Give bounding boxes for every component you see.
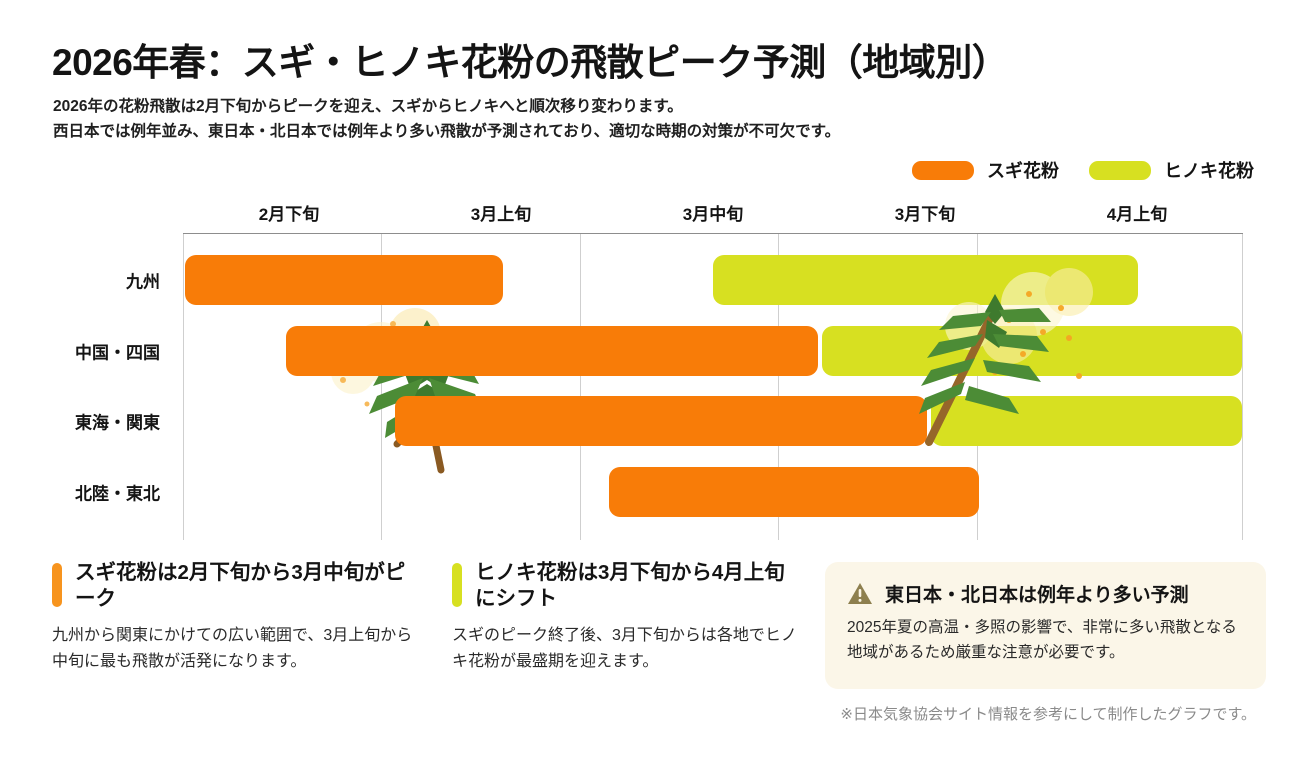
column-header-2: 3月中旬 [607,200,819,230]
row-label-chugoku: 中国・四国 [75,339,160,364]
page-subtitle: 2026年の花粉飛散は2月下旬からピークを迎え、スギからヒノキへと順次移り変わり… [53,94,840,144]
callout-cypress-header: ヒノキ花粉は3月下旬から4月上旬にシフト [452,560,800,612]
warning-title: 東日本・北日本は例年より多い予測 [885,580,1189,607]
chart-plot-area [183,234,1243,540]
legend-label-cedar: スギ花粉 [987,157,1059,183]
bar-chugoku-cedar [286,326,818,376]
chart-row-labels: 九州 中国・四国 東海・関東 北陸・東北 [0,234,172,540]
footnote: ※日本気象協会サイト情報を参考にして制作したグラフです。 [840,703,1256,724]
row-label-tokai: 東海・関東 [75,409,160,434]
chart-column-headers: 2月下旬 3月上旬 3月中旬 3月下旬 4月上旬 [183,200,1243,230]
column-header-0: 2月下旬 [183,200,395,230]
warning-body: 2025年夏の高温・多照の影響で、非常に多い飛散となる地域があるため厳重な注意が… [825,607,1266,666]
callout-cedar-header: スギ花粉は2月下旬から3月中旬がピーク [52,560,422,612]
callout-cypress: ヒノキ花粉は3月下旬から4月上旬にシフト スギのピーク終了後、3月下旬からは各地… [452,560,800,675]
bar-hokuriku-cedar [609,467,979,517]
legend-label-cypress: ヒノキ花粉 [1164,157,1254,183]
warning-triangle-icon [847,582,873,606]
bar-kyushu-cedar [185,255,503,305]
legend-swatch-cypress [1089,161,1151,180]
callout-cedar-title: スギ花粉は2月下旬から3月中旬がピーク [75,560,422,612]
infographic-page: 2026年春：スギ・ヒノキ花粉の飛散ピーク予測（地域別） 2026年の花粉飛散は… [0,0,1300,765]
callout-cypress-title: ヒノキ花粉は3月下旬から4月上旬にシフト [475,560,800,612]
bar-tokai-cedar [395,396,927,446]
warning-header: 東日本・北日本は例年より多い予測 [825,562,1266,607]
legend-item-cedar: スギ花粉 [912,157,1059,183]
legend-item-cypress: ヒノキ花粉 [1089,157,1254,183]
bar-tokai-cypress [931,396,1242,446]
callout-cedar: スギ花粉は2月下旬から3月中旬がピーク 九州から関東にかけての広い範囲で、3月上… [52,560,422,675]
subtitle-line-1: 2026年の花粉飛散は2月下旬からピークを迎え、スギからヒノキへと順次移り変わり… [53,94,840,119]
gridline-2 [580,234,581,540]
callout-cypress-body: スギのピーク終了後、3月下旬からは各地でヒノキ花粉が最盛期を迎えます。 [452,623,800,675]
callout-accent-bar-cedar [52,563,62,607]
callout-cedar-body: 九州から関東にかけての広い範囲で、3月上旬から中旬に最も飛散が活発になります。 [52,623,422,675]
bar-chugoku-cypress [822,326,1242,376]
gridline-0 [183,234,184,540]
page-title: 2026年春：スギ・ヒノキ花粉の飛散ピーク予測（地域別） [52,32,1008,86]
column-header-3: 3月下旬 [819,200,1031,230]
bar-kyushu-cypress [713,255,1138,305]
subtitle-line-2: 西日本では例年並み、東日本・北日本では例年より多い飛散が予測されており、適切な時… [53,119,840,144]
chart-legend: スギ花粉 ヒノキ花粉 [912,157,1254,183]
callout-accent-bar-cypress [452,563,462,607]
legend-swatch-cedar [912,161,974,180]
row-label-hokuriku: 北陸・東北 [75,480,160,505]
gridline-5 [1242,234,1243,540]
row-label-kyushu: 九州 [126,268,160,293]
column-header-1: 3月上旬 [395,200,607,230]
warning-box: 東日本・北日本は例年より多い予測 2025年夏の高温・多照の影響で、非常に多い飛… [825,562,1266,689]
column-header-4: 4月上旬 [1031,200,1243,230]
